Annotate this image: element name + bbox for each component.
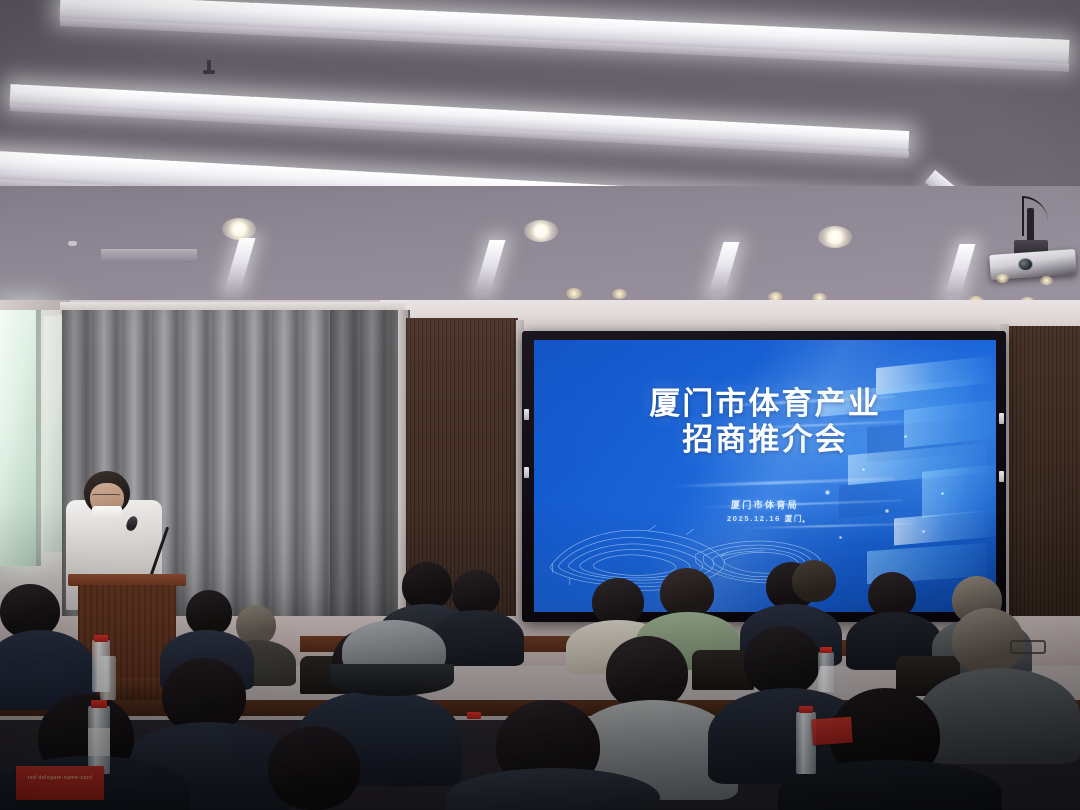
ceiling-downlight [818,226,852,248]
audience-head [744,626,820,696]
window-daylight [0,306,40,566]
water-bottle-cap [94,635,108,642]
slide-date-location: 2025.12.16 厦门 [534,513,996,524]
ceiling-downlight [566,288,582,299]
water-bottle [100,656,116,700]
audience-head [606,636,688,710]
audience-shoulders [918,668,1080,764]
slide-title-line-2: 招商推介会 [534,422,996,458]
water-bottle-cap [799,706,813,713]
delegate-name-card: red-delegate-name-card [16,766,104,800]
ceiling-soffit [0,186,1080,306]
slide-sparkle [862,468,865,471]
audience-glasses [1010,640,1046,654]
slide-sparkle [825,490,830,495]
water-bottle-cap [91,700,107,708]
screen-bezel-tab [999,413,1004,424]
water-bottle-cap [467,712,481,719]
audience-head [402,562,452,610]
air-vent [100,248,198,262]
screen-bezel-tab [524,467,529,478]
ceiling-downlight [222,218,256,240]
audience-head [792,560,836,602]
window-frame [36,306,41,566]
audience-head [268,726,360,810]
projection-screen[interactable]: 厦门市体育产业 招商推介会 厦门市体育局 2025.12.16 厦门 [522,331,1006,622]
baseball-cap-brim [330,664,454,696]
slide-organizer: 厦门市体育局 [534,498,996,511]
sprinkler-head [203,70,215,74]
water-bottle-label [88,728,110,756]
ceiling [0,0,1080,330]
water-bottle-cap [820,647,832,653]
conference-hall-photo: 厦门市体育产业 招商推介会 厦门市体育局 2025.12.16 厦门 [0,0,1080,810]
projector-indicator-light [1040,276,1053,285]
audience-head [592,578,644,626]
projector-indicator-light [996,274,1009,283]
ceiling-downlight [524,220,558,242]
screen-bezel-tab [999,471,1004,482]
slide-sparkle [839,536,842,539]
delegate-name-card-text: red-delegate-name-card [16,775,104,781]
slide-title: 厦门市体育产业 招商推介会 [534,386,996,458]
audience-head [660,568,714,618]
projector-lens [1018,258,1033,271]
slide-canvas: 厦门市体育产业 招商推介会 厦门市体育局 2025.12.16 厦门 [534,340,996,612]
delegate-name-card [811,717,853,746]
water-bottle [818,652,834,692]
speaker-glasses [92,494,120,499]
sprinkler-head [68,241,77,246]
slide-title-line-1: 厦门市体育产业 [534,386,996,422]
speaker-collar [92,506,122,522]
wall-wood-panel [1008,326,1080,656]
screen-bezel-tab [524,409,529,420]
slide-sparkle [941,492,944,495]
ceiling-downlight [612,289,627,299]
